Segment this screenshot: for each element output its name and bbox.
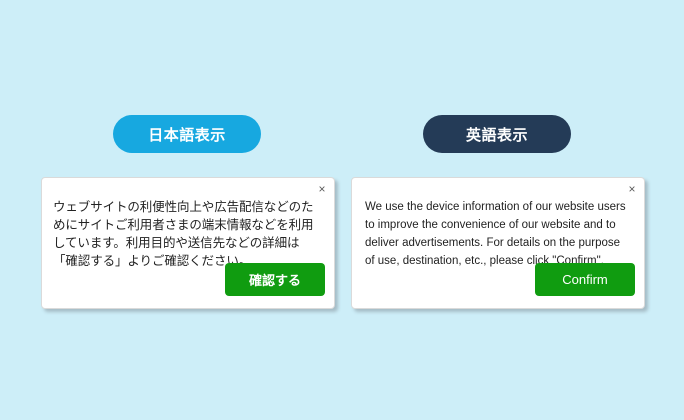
close-icon[interactable]: × xyxy=(314,181,330,197)
consent-body-english: We use the device information of our web… xyxy=(363,198,633,270)
consent-body-japanese: ウェブサイトの利便性向上や広告配信などのためにサイトご利用者さまの端末情報などを… xyxy=(53,198,323,270)
consent-text-english: We use the device information of our web… xyxy=(363,198,633,270)
language-toggle-english-label: 英語表示 xyxy=(466,124,528,145)
consent-text-japanese: ウェブサイトの利便性向上や広告配信などのためにサイトご利用者さまの端末情報などを… xyxy=(53,198,323,270)
page-canvas: 日本語表示 英語表示 × ウェブサイトの利便性向上や広告配信などのためにサイトご… xyxy=(0,0,684,420)
cta-row-japanese: 確認する xyxy=(225,263,325,296)
confirm-button-japanese[interactable]: 確認する xyxy=(225,263,325,296)
language-toggle-japanese-label: 日本語表示 xyxy=(148,124,226,145)
language-toggle-english[interactable]: 英語表示 xyxy=(423,115,571,153)
cta-row-english: Confirm xyxy=(535,263,635,296)
close-icon[interactable]: × xyxy=(624,181,640,197)
consent-dialog-english: × We use the device information of our w… xyxy=(351,177,645,309)
consent-dialog-japanese: × ウェブサイトの利便性向上や広告配信などのためにサイトご利用者さまの端末情報な… xyxy=(41,177,335,309)
language-toggle-japanese[interactable]: 日本語表示 xyxy=(113,115,261,153)
confirm-button-english[interactable]: Confirm xyxy=(535,263,635,296)
